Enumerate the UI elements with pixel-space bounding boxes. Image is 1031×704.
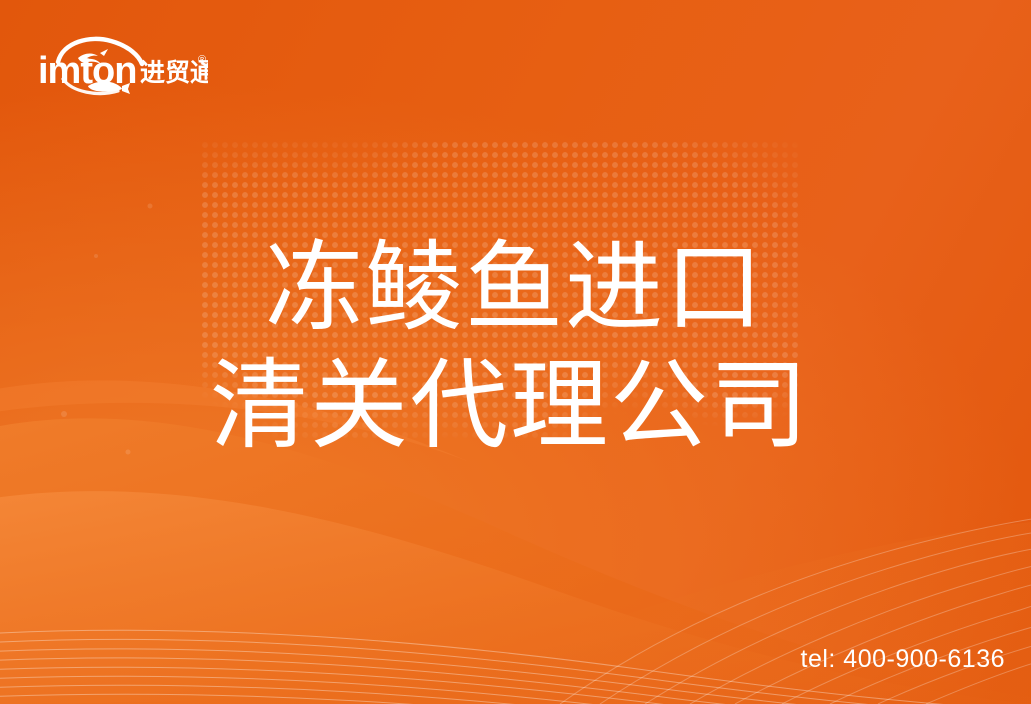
logo-wordmark: imton (38, 50, 136, 92)
brand-logo[interactable]: imton 进贸通 ® (36, 31, 208, 99)
promo-banner: imton 进贸通 ® 冻鲮鱼进口 清关代理公司 tel: 400-900-61… (0, 0, 1031, 704)
headline-line-2: 清关代理公司 (0, 346, 1031, 464)
headline-line-1: 冻鲮鱼进口 (0, 228, 1031, 346)
headline: 冻鲮鱼进口 清关代理公司 (0, 228, 1031, 464)
trademark-symbol: ® (198, 54, 206, 66)
phone-number[interactable]: tel: 400-900-6136 (801, 645, 1005, 674)
